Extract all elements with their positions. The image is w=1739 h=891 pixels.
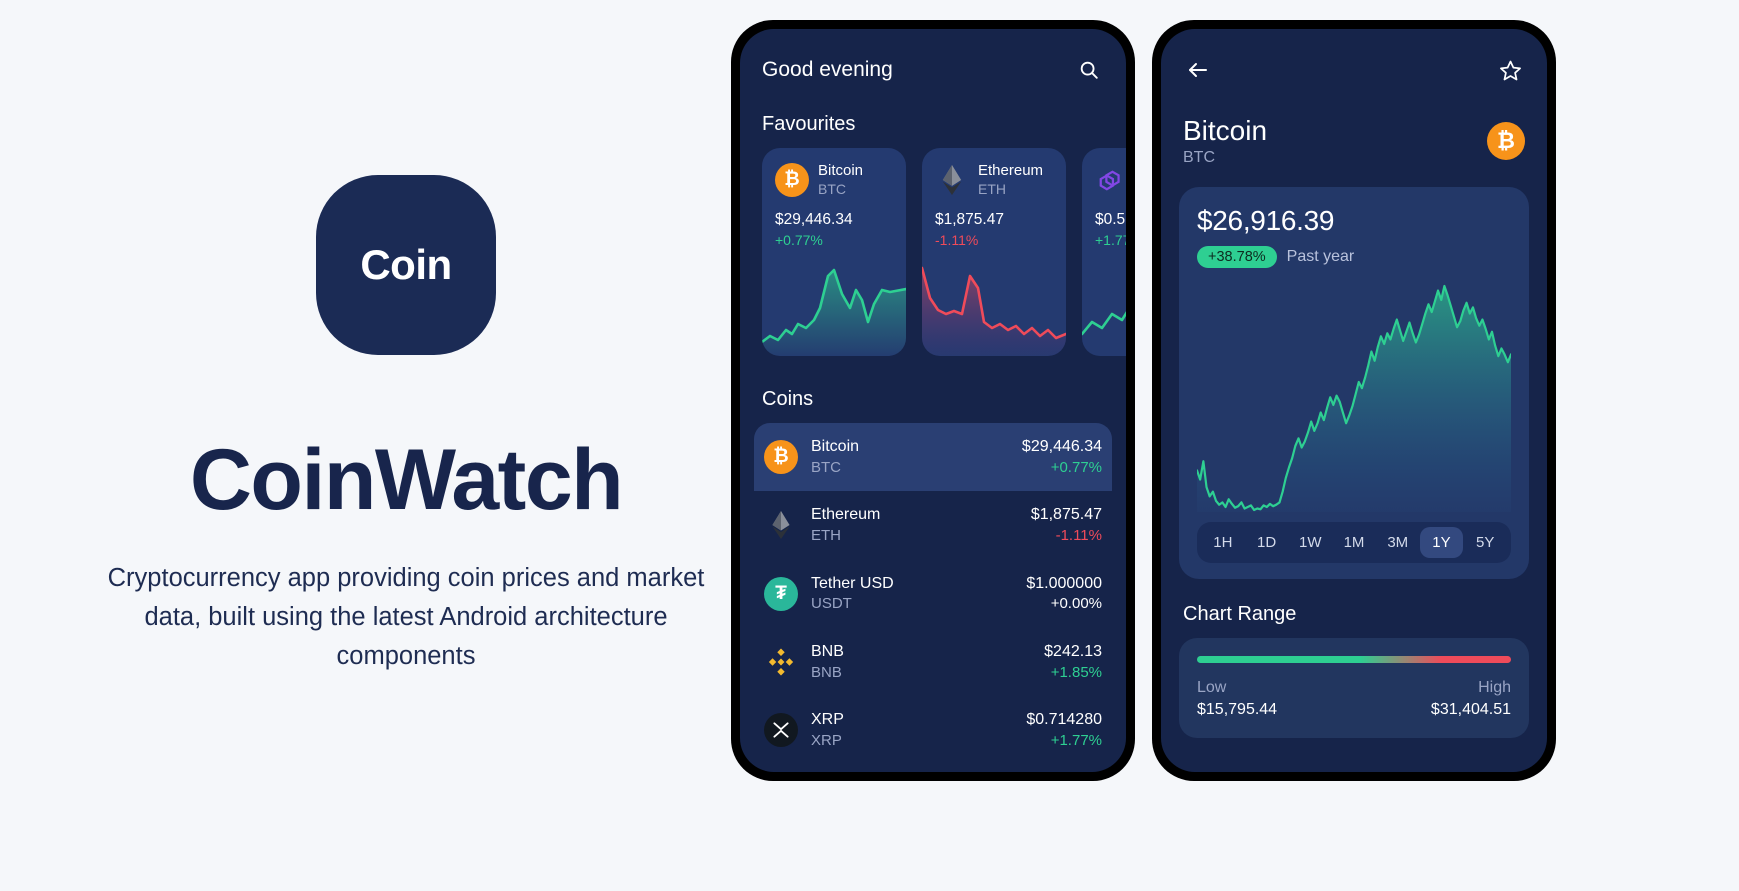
coin-symbol: XRP: [811, 731, 1013, 751]
coins-title: Coins: [740, 360, 1126, 423]
favourite-card-header: ₿ Bitcoin BTC: [775, 162, 893, 198]
bitcoin-icon: ₿: [1487, 122, 1525, 160]
high-label: High: [1478, 677, 1511, 699]
favourite-change: -1.11%: [935, 232, 1053, 248]
search-icon[interactable]: [1074, 55, 1104, 85]
range-bar: [1197, 656, 1511, 663]
favourite-change: +1.77: [1095, 232, 1126, 248]
status-badge: +38.78%: [1197, 246, 1277, 268]
range-tab-5y[interactable]: 5Y: [1463, 527, 1507, 558]
favourite-price: $1,875.47: [935, 211, 1053, 229]
range-tab-3m[interactable]: 3M: [1376, 527, 1420, 558]
low-label: Low: [1197, 677, 1277, 699]
coin-symbol: BTC: [811, 458, 1009, 478]
bitcoin-icon: ₿: [764, 440, 798, 474]
coin-price: $1,875.47: [1031, 505, 1102, 526]
coin-name: BNB: [811, 642, 1031, 663]
coin-row-bitcoin[interactable]: ₿ Bitcoin BTC $29,446.34 +0.77%: [754, 423, 1112, 491]
range-values: Low $15,795.44 High $31,404.51: [1197, 677, 1511, 720]
range-tab-1h[interactable]: 1H: [1201, 527, 1245, 558]
coins-list: ₿ Bitcoin BTC $29,446.34 +0.77%: [740, 423, 1126, 764]
price-chart[interactable]: [1197, 276, 1511, 512]
bitcoin-icon: ₿: [775, 163, 809, 197]
favourite-card-ethereum[interactable]: Ethereum ETH $1,875.47 -1.11%: [922, 148, 1066, 356]
chart-range-card: Low $15,795.44 High $31,404.51: [1179, 638, 1529, 738]
app-description: Cryptocurrency app providing coin prices…: [86, 559, 726, 675]
favourite-card-header: Polygon MATIC: [1095, 162, 1126, 198]
greeting-text: Good evening: [762, 58, 893, 82]
coin-price: $29,446.34: [1022, 437, 1102, 458]
phone-detail-mockup: Bitcoin BTC ₿ $26,916.39 +38.78% Past ye…: [1152, 20, 1556, 781]
favourite-symbol: BTC: [818, 181, 863, 199]
detail-coin-symbol: BTC: [1183, 149, 1267, 167]
detail-change-meta: +38.78% Past year: [1197, 246, 1511, 268]
ethereum-icon: [764, 508, 798, 542]
home-topbar: Good evening: [740, 29, 1126, 85]
favourite-symbol: ETH: [978, 181, 1043, 199]
coin-price: $0.714280: [1026, 710, 1102, 731]
coin-change: +1.85%: [1051, 663, 1102, 683]
coin-price: $1.000000: [1026, 574, 1102, 595]
page-title: CoinWatch: [190, 437, 622, 523]
coin-change: +0.00%: [1051, 594, 1102, 614]
app-icon: Coin: [316, 175, 496, 355]
coin-change: +0.77%: [1051, 458, 1102, 478]
coin-row-xrp[interactable]: XRP XRP $0.714280 +1.77%: [754, 696, 1112, 764]
xrp-icon: [764, 713, 798, 747]
coin-symbol: USDT: [811, 594, 1013, 614]
favourite-price: $29,446.34: [775, 211, 893, 229]
detail-coin-name: Bitcoin: [1183, 115, 1267, 147]
low-value: $15,795.44: [1197, 699, 1277, 721]
favourite-name: Ethereum: [978, 162, 1043, 181]
favourite-card-bitcoin[interactable]: ₿ Bitcoin BTC $29,446.34 +0.77%: [762, 148, 906, 356]
coin-name: XRP: [811, 710, 1013, 731]
branding-panel: Coin CoinWatch Cryptocurrency app provid…: [0, 0, 812, 891]
sparkline-polygon: [1082, 264, 1126, 356]
app-icon-label: Coin: [360, 241, 451, 289]
range-tab-1d[interactable]: 1D: [1245, 527, 1289, 558]
favourite-card-polygon[interactable]: Polygon MATIC $0.5 +1.77: [1082, 148, 1126, 356]
coin-symbol: ETH: [811, 526, 1018, 546]
high-value: $31,404.51: [1431, 699, 1511, 721]
range-tab-1w[interactable]: 1W: [1288, 527, 1332, 558]
coin-name: Bitcoin: [811, 437, 1009, 458]
favourite-card-header: Ethereum ETH: [935, 162, 1053, 198]
price-chart-card: $26,916.39 +38.78% Past year: [1179, 187, 1529, 579]
coin-row-bnb[interactable]: BNB BNB $242.13 +1.85%: [754, 628, 1112, 696]
home-screen: Good evening Favourites ₿ Bitcoin BTC $2…: [740, 29, 1126, 772]
polygon-icon: [1095, 163, 1126, 197]
range-tab-1y[interactable]: 1Y: [1420, 527, 1464, 558]
detail-price: $26,916.39: [1197, 205, 1511, 237]
bnb-icon: [764, 645, 798, 679]
detail-topbar: [1161, 29, 1547, 85]
coin-name: Ethereum: [811, 505, 1018, 526]
coin-price: $242.13: [1044, 642, 1102, 663]
chart-range-title: Chart Range: [1161, 579, 1547, 638]
coin-symbol: BNB: [811, 663, 1031, 683]
sparkline-ethereum: [922, 264, 1066, 356]
coin-name: Tether USD: [811, 574, 1013, 595]
back-arrow-icon[interactable]: [1183, 55, 1213, 85]
detail-header: Bitcoin BTC ₿: [1161, 85, 1547, 167]
coin-detail-screen: Bitcoin BTC ₿ $26,916.39 +38.78% Past ye…: [1161, 29, 1547, 772]
range-tab-1m[interactable]: 1M: [1332, 527, 1376, 558]
star-outline-icon[interactable]: [1495, 55, 1525, 85]
coin-row-ethereum[interactable]: Ethereum ETH $1,875.47 -1.11%: [754, 491, 1112, 559]
phone-home-mockup: Good evening Favourites ₿ Bitcoin BTC $2…: [731, 20, 1135, 781]
price-chart-svg: [1197, 276, 1511, 512]
ethereum-icon: [935, 163, 969, 197]
favourite-price: $0.5: [1095, 211, 1126, 229]
favourite-name: Bitcoin: [818, 162, 863, 181]
coin-change: -1.11%: [1056, 526, 1102, 546]
detail-period-label: Past year: [1287, 248, 1355, 266]
favourite-change: +0.77%: [775, 232, 893, 248]
favourites-carousel[interactable]: ₿ Bitcoin BTC $29,446.34 +0.77%: [740, 148, 1126, 360]
sparkline-bitcoin: [762, 264, 906, 356]
coin-row-tether[interactable]: ₮ Tether USD USDT $1.000000 +0.00%: [754, 560, 1112, 628]
coin-change: +1.77%: [1051, 731, 1102, 751]
time-range-tabs[interactable]: 1H 1D 1W 1M 3M 1Y 5Y: [1197, 522, 1511, 563]
tether-icon: ₮: [764, 577, 798, 611]
favourites-title: Favourites: [740, 85, 1126, 148]
